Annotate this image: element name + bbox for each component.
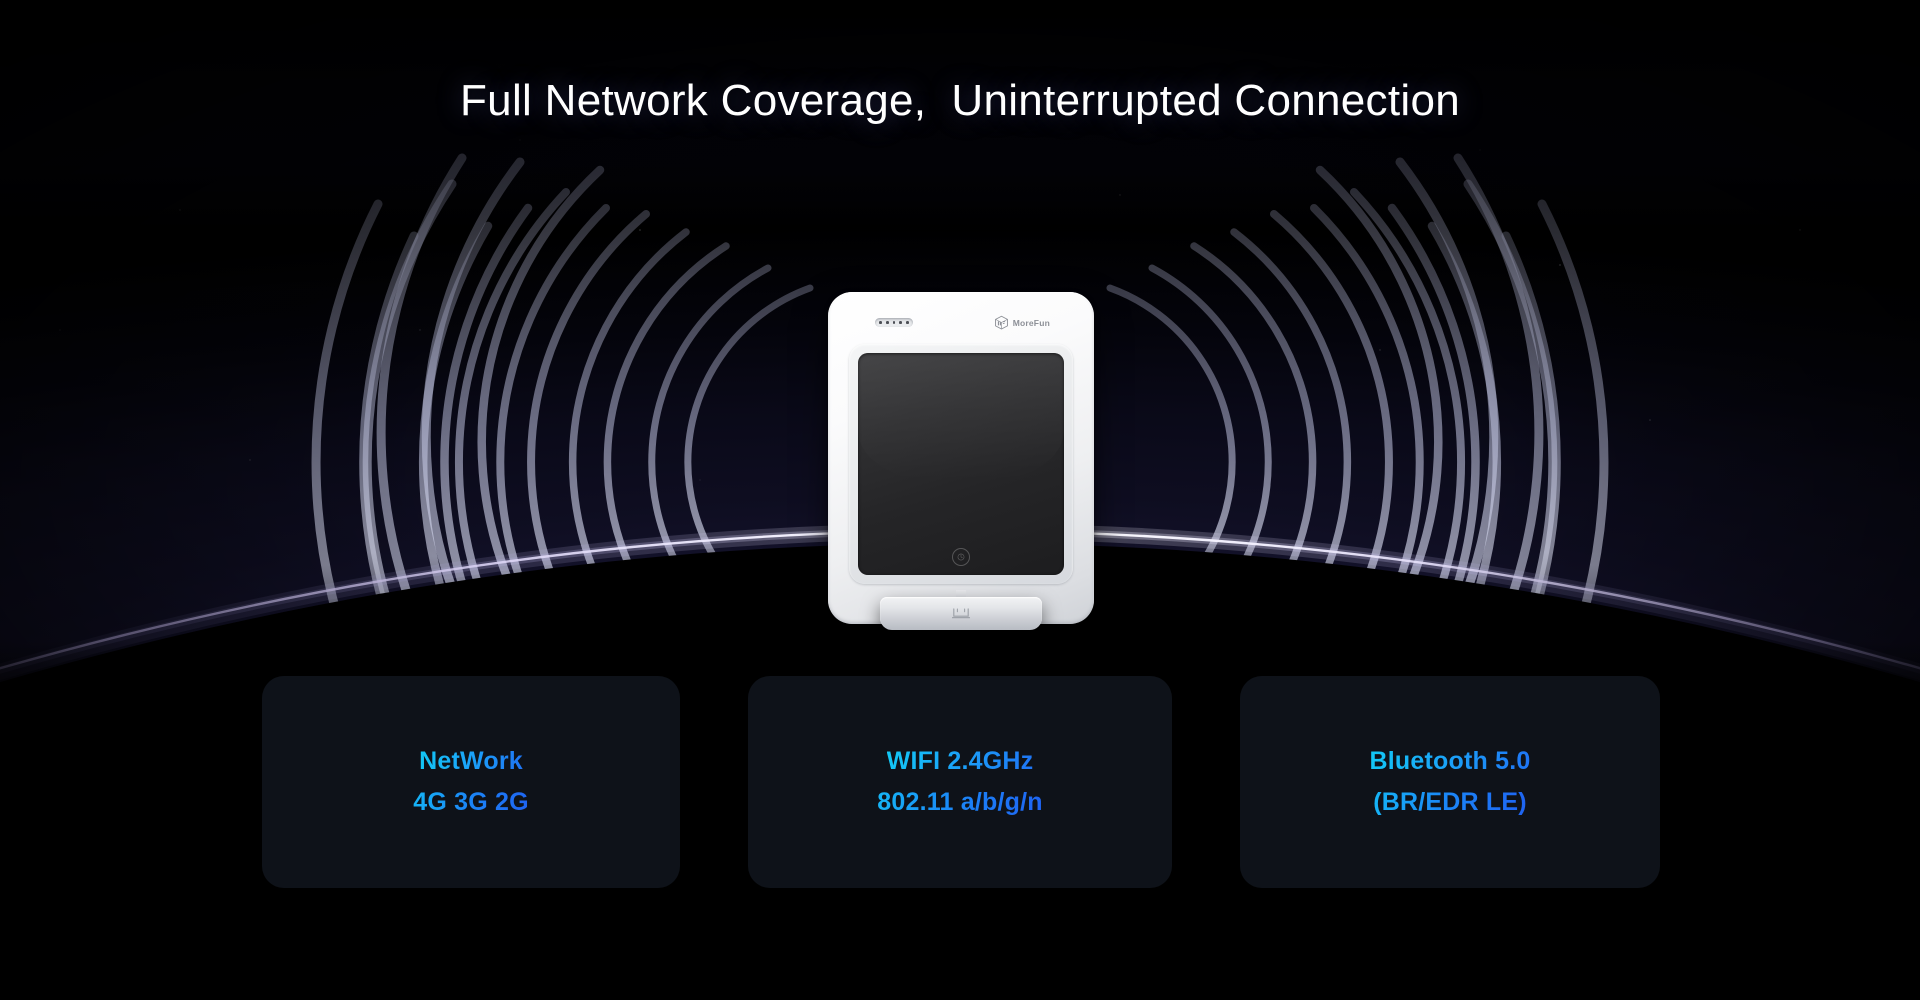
card-title: Bluetooth 5.0 (1370, 747, 1531, 776)
card-slot-icon (952, 607, 970, 620)
morefun-cube-logo-icon (994, 315, 1009, 330)
page-title: Full Network Coverage, Uninterrupted Con… (0, 76, 1920, 126)
device-screen[interactable] (858, 353, 1064, 575)
card-slot-tray[interactable] (880, 597, 1042, 630)
card-subtitle: (BR/EDR LE) (1373, 788, 1527, 817)
feature-card-wifi[interactable]: WIFI 2.4GHz 802.11 a/b/g/n (748, 676, 1172, 888)
device-body: MoreFun (828, 292, 1094, 624)
feature-card-bluetooth[interactable]: Bluetooth 5.0 (BR/EDR LE) (1240, 676, 1660, 888)
device-brand-name: MoreFun (1013, 318, 1050, 328)
card-title: WIFI 2.4GHz (887, 747, 1034, 776)
screen-gloss (858, 353, 1064, 482)
feature-card-network[interactable]: NetWork 4G 3G 2G (262, 676, 680, 888)
feature-card-list: NetWork 4G 3G 2G WIFI 2.4GHz 802.11 a/b/… (0, 676, 1920, 888)
pos-terminal-device: MoreFun (828, 292, 1094, 634)
home-power-icon[interactable] (952, 548, 970, 566)
card-subtitle: 802.11 a/b/g/n (877, 788, 1042, 817)
promo-banner: MoreFun (0, 0, 1920, 1000)
speaker-grille-icon (875, 318, 913, 327)
device-bezel (849, 344, 1073, 584)
power-glyph-icon (957, 553, 965, 561)
card-title: NetWork (419, 747, 523, 776)
device-brand: MoreFun (994, 315, 1050, 330)
card-subtitle: 4G 3G 2G (413, 788, 529, 817)
